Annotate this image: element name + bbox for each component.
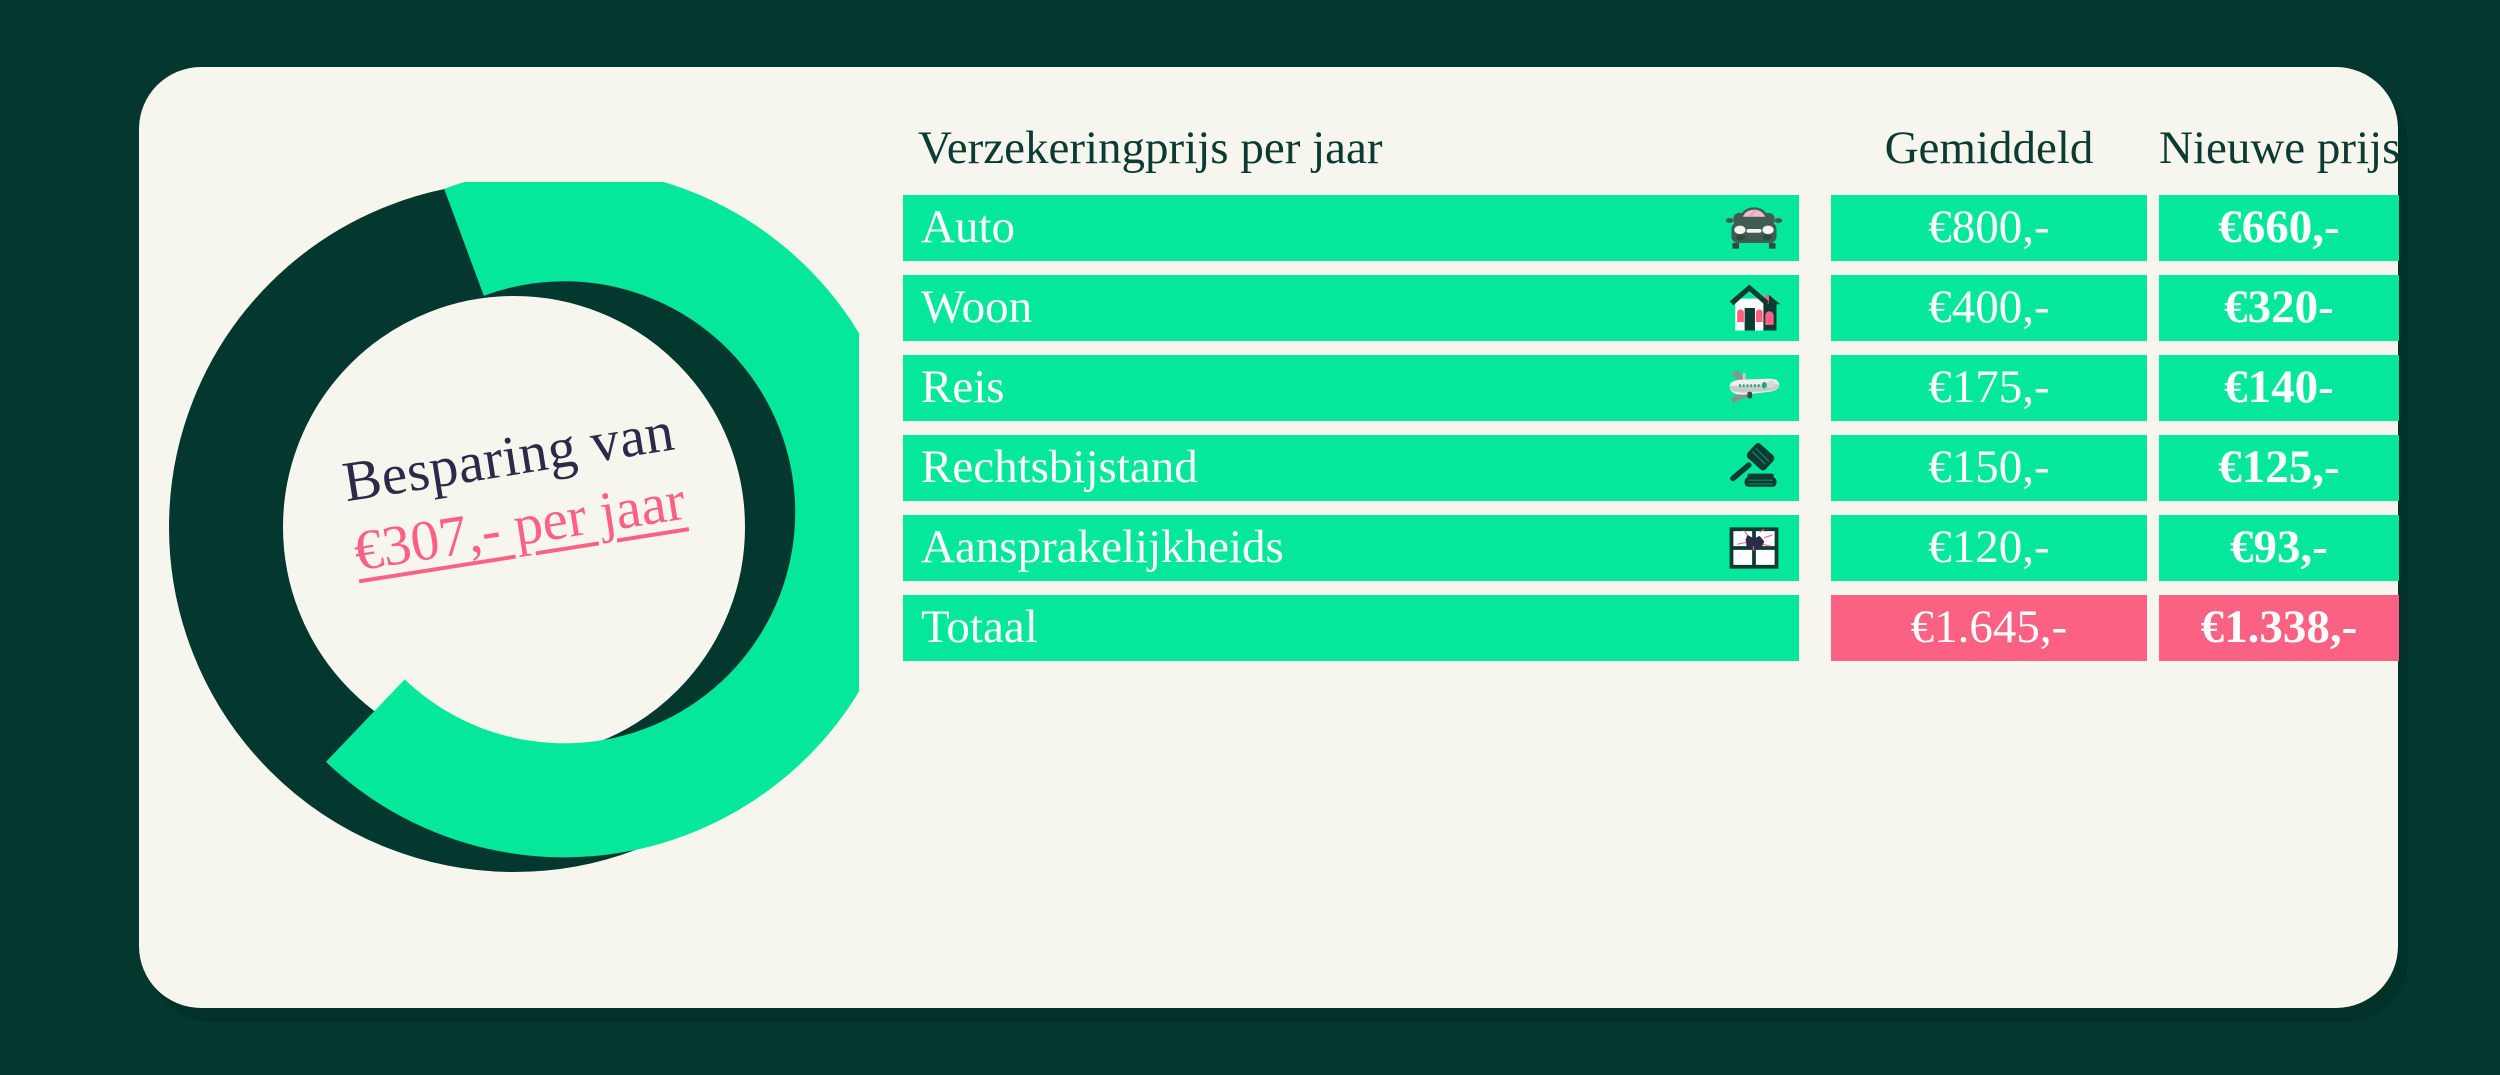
- row-new-price-cell: €1.338,-: [2159, 595, 2399, 661]
- row-new-price-cell: €320-: [2159, 275, 2399, 341]
- row-label-text: Woon: [921, 275, 1032, 341]
- table-row: Reis: [903, 355, 2398, 421]
- gavel-icon: [1723, 438, 1785, 498]
- row-average-cell: €150,-: [1831, 435, 2147, 501]
- row-label-text: Totaal: [921, 595, 1038, 661]
- savings-donut-chart: Besparing van €307,- per jaar: [169, 182, 859, 872]
- row-average-cell: €800,-: [1831, 195, 2147, 261]
- row-label-cell: Auto: [903, 195, 1799, 261]
- row-label-cell: Rechtsbijstand: [903, 435, 1799, 501]
- column-header-label: Verzekeringprijs per jaar: [918, 117, 1383, 179]
- table-row: Aansprakelijkheids: [903, 515, 2398, 581]
- row-new-price-cell: €140-: [2159, 355, 2399, 421]
- row-average-cell: €400,-: [1831, 275, 2147, 341]
- donut-svg: [169, 182, 859, 872]
- row-label-cell: Aansprakelijkheids: [903, 515, 1799, 581]
- column-header-new-price: Nieuwe prijs: [2159, 117, 2399, 179]
- row-average-cell: €175,-: [1831, 355, 2147, 421]
- row-label-text: Rechtsbijstand: [921, 435, 1198, 501]
- broken-window-icon: [1723, 518, 1785, 578]
- row-new-price-cell: €93,-: [2159, 515, 2399, 581]
- house-icon: [1723, 278, 1785, 338]
- table-body: Auto: [903, 195, 2398, 675]
- row-new-price-cell: €125,-: [2159, 435, 2399, 501]
- row-average-cell: €1.645,-: [1831, 595, 2147, 661]
- price-comparison-table: Verzekeringprijs per jaar Gemiddeld Nieu…: [903, 67, 2398, 1008]
- table-row: Rechtsbijstand: [903, 435, 2398, 501]
- table-header-row: Verzekeringprijs per jaar Gemiddeld Nieu…: [903, 117, 2398, 179]
- row-label-cell: Totaal: [903, 595, 1799, 661]
- row-label-text: Auto: [921, 195, 1015, 261]
- table-row-total: Totaal €1.645,- €1.338,-: [903, 595, 2398, 661]
- row-label-text: Reis: [921, 355, 1005, 421]
- content-card: Besparing van €307,- per jaar Verzekerin…: [139, 67, 2398, 1008]
- row-label-cell: Woon: [903, 275, 1799, 341]
- table-row: Auto: [903, 195, 2398, 261]
- row-average-cell: €120,-: [1831, 515, 2147, 581]
- row-label-cell: Reis: [903, 355, 1799, 421]
- row-label-text: Aansprakelijkheids: [921, 515, 1284, 581]
- car-icon: [1723, 198, 1785, 258]
- row-new-price-cell: €660,-: [2159, 195, 2399, 261]
- table-row: Woon: [903, 275, 2398, 341]
- infographic-stage: Besparing van €307,- per jaar Verzekerin…: [0, 0, 2500, 1075]
- column-header-average: Gemiddeld: [1831, 117, 2147, 179]
- airplane-icon: [1723, 358, 1785, 418]
